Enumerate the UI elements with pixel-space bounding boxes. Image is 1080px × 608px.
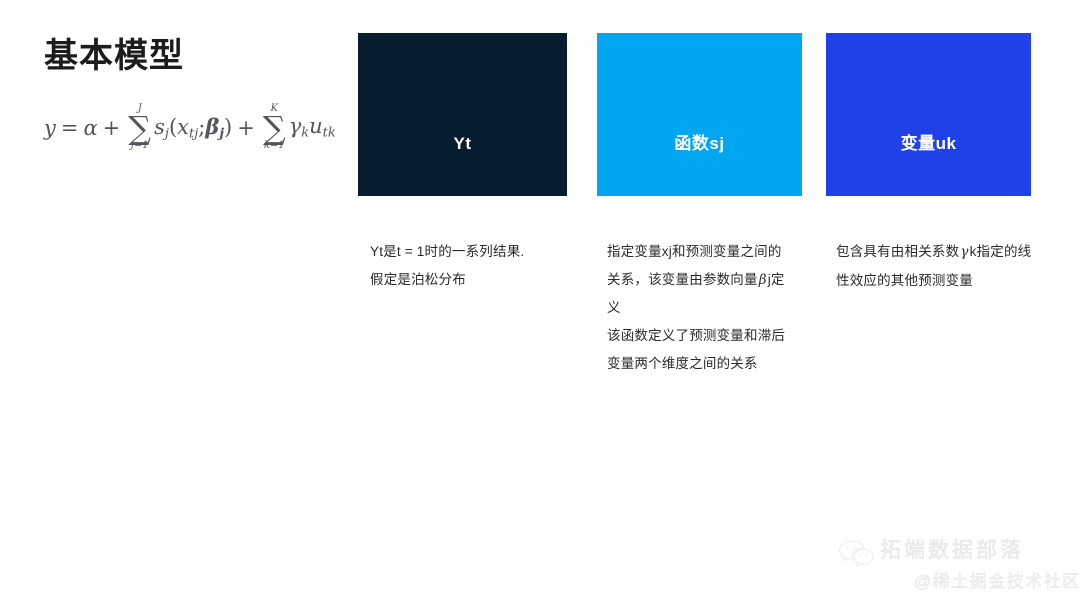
formula-plus-1: + <box>98 116 126 140</box>
caption-yt-line-2: 假定是泊松分布 <box>370 266 556 294</box>
watermark-line-2: @稀土掘金技术社区 <box>914 567 1080 592</box>
formula-lhs: y <box>44 116 56 140</box>
card-yt-label: Yt <box>454 134 472 196</box>
caption-uk-gamma: γ <box>959 244 969 260</box>
formula-sum1-lower: j=1 <box>131 141 149 152</box>
card-yt: Yt <box>358 33 567 196</box>
formula-summation-k: K ∑ k=1 <box>263 104 286 151</box>
caption-yt-line-1: Yt是t = 1时的一系列结果. <box>370 238 556 266</box>
caption-sj: 指定变量xj和预测变量之间的关系，该变量由参数向量βj定义 该函数定义了预测变量… <box>607 238 793 377</box>
page-title: 基本模型 <box>44 36 184 77</box>
wechat-bubbles-icon <box>838 538 876 568</box>
model-formula: y = α + J ∑ j=1 sj(xtj;βj) + K ∑ k=1 γku… <box>44 104 344 174</box>
caption-yt: Yt是t = 1时的一系列结果. 假定是泊松分布 <box>370 238 556 293</box>
card-uk-label: 变量uk <box>901 134 957 196</box>
formula-u: u <box>309 114 323 138</box>
formula-gamma: γ <box>289 114 302 138</box>
caption-uk-line-1: 包含具有由相关系数γk指定的线性效应的其他预测变量 <box>836 238 1032 294</box>
caption-sj-beta: β <box>758 272 768 288</box>
formula-close-paren: ) <box>224 115 232 139</box>
card-sj-label: 函数sj <box>674 134 724 196</box>
watermark: 拓端数据部落 @稀土掘金技术社区 <box>836 534 1068 600</box>
slide-canvas: 基本模型 y = α + J ∑ j=1 sj(xtj;βj) + K ∑ k=… <box>0 0 1080 608</box>
formula-x-sub: tj <box>189 126 198 141</box>
formula-s: s <box>154 115 165 139</box>
formula-x: x <box>177 115 189 139</box>
formula-term1: sj(xtj;βj) <box>154 114 232 142</box>
formula-alpha: α <box>83 116 97 140</box>
formula-summation-j: J ∑ j=1 <box>128 104 151 151</box>
caption-uk-text-a: 包含具有由相关系数 <box>836 244 959 259</box>
caption-sj-line-2: 该函数定义了预测变量和滞后变量两个维度之间的关系 <box>607 322 793 377</box>
caption-sj-text-a: 指定变量xj和预测变量之间的关系，该变量由参数向量 <box>607 244 782 287</box>
caption-uk: 包含具有由相关系数γk指定的线性效应的其他预测变量 <box>836 238 1032 294</box>
caption-sj-line-1: 指定变量xj和预测变量之间的关系，该变量由参数向量βj定义 <box>607 238 793 322</box>
formula-plus-2: + <box>232 116 260 140</box>
formula-beta: β <box>205 114 219 139</box>
card-sj: 函数sj <box>597 33 802 196</box>
watermark-line-1: 拓端数据部落 <box>880 534 1024 564</box>
formula-expression: y = α + J ∑ j=1 sj(xtj;βj) + K ∑ k=1 γku… <box>44 104 344 151</box>
formula-sum2-lower: k=1 <box>264 141 285 152</box>
formula-open-paren: ( <box>169 115 177 139</box>
formula-u-sub: tk <box>323 126 336 141</box>
formula-equals: = <box>56 116 84 140</box>
card-uk: 变量uk <box>826 33 1031 196</box>
sigma-icon-2: ∑ <box>263 115 286 141</box>
formula-gamma-sub: k <box>301 126 309 141</box>
sigma-icon: ∑ <box>128 115 151 141</box>
formula-term2: γkutk <box>289 114 336 141</box>
